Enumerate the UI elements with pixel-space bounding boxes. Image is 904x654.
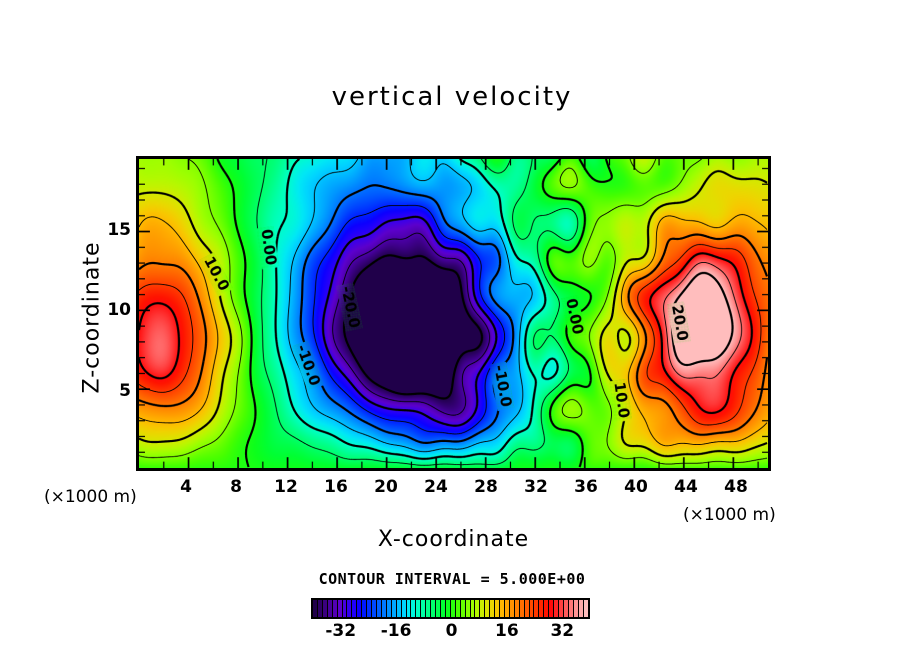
x-tick-label: 4 <box>180 477 192 497</box>
colorbar-tick-label: -16 <box>381 621 412 641</box>
colorbar-block: CONTOUR INTERVAL = 5.000E+00 -32-1601632 <box>300 570 604 631</box>
colorbar-tick-label: 16 <box>495 621 519 641</box>
page-title: vertical velocity <box>0 82 904 112</box>
colorbar-tick-label: 32 <box>550 621 574 641</box>
contour-field-canvas <box>139 159 768 468</box>
x-tick-label: 28 <box>474 477 498 497</box>
x-tick-label: 8 <box>230 477 242 497</box>
x-tick-label: 24 <box>424 477 448 497</box>
colorbar-tick-labels: -32-1601632 <box>300 621 604 643</box>
colorbar-tick-label: 0 <box>446 621 458 641</box>
x-tick-label: 12 <box>274 477 298 497</box>
x-tick-label: 32 <box>524 477 548 497</box>
contour-plot-area[interactable] <box>136 156 771 471</box>
y-tick-label: 10 <box>107 300 131 320</box>
x-tick-label: 40 <box>624 477 648 497</box>
colorbar-cell <box>584 600 588 617</box>
x-units-label-left: (×1000 m) <box>44 487 137 507</box>
x-tick-label: 36 <box>574 477 598 497</box>
y-tick-label: 15 <box>107 220 131 240</box>
x-axis-title: X-coordinate <box>136 527 771 552</box>
contour-interval-label: CONTOUR INTERVAL = 5.000E+00 <box>300 570 604 588</box>
x-tick-label: 16 <box>324 477 348 497</box>
y-tick-label: 5 <box>119 381 131 401</box>
x-tick-label: 20 <box>374 477 398 497</box>
x-tick-label: 44 <box>674 477 698 497</box>
colorbar-tick-label: -32 <box>325 621 356 641</box>
plot-page: vertical velocity 4812162024283236404448… <box>0 0 904 654</box>
y-axis-title: Z-coordinate <box>80 208 105 428</box>
x-tick-label: 48 <box>724 477 748 497</box>
colorbar[interactable] <box>311 598 590 619</box>
x-units-label-right: (×1000 m) <box>683 505 776 525</box>
